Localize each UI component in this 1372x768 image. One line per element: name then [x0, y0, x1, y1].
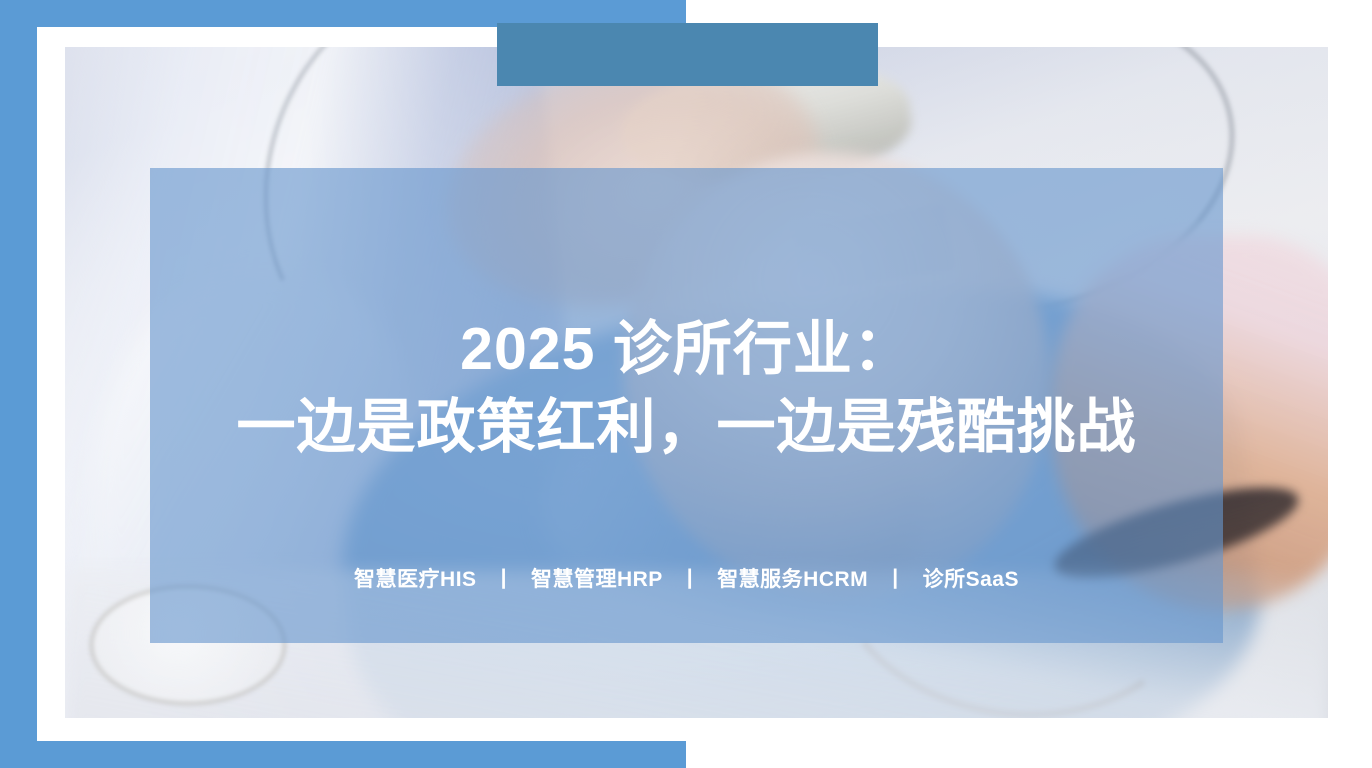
decorative-bar-left	[0, 0, 37, 742]
decorative-accent-rectangle	[497, 23, 878, 86]
text-overlay-panel	[150, 168, 1223, 643]
decorative-bar-bottom	[0, 741, 686, 768]
presentation-slide: 2025 诊所行业： 一边是政策红利，一边是残酷挑战 智慧医疗HIS | 智慧管…	[0, 0, 1372, 768]
